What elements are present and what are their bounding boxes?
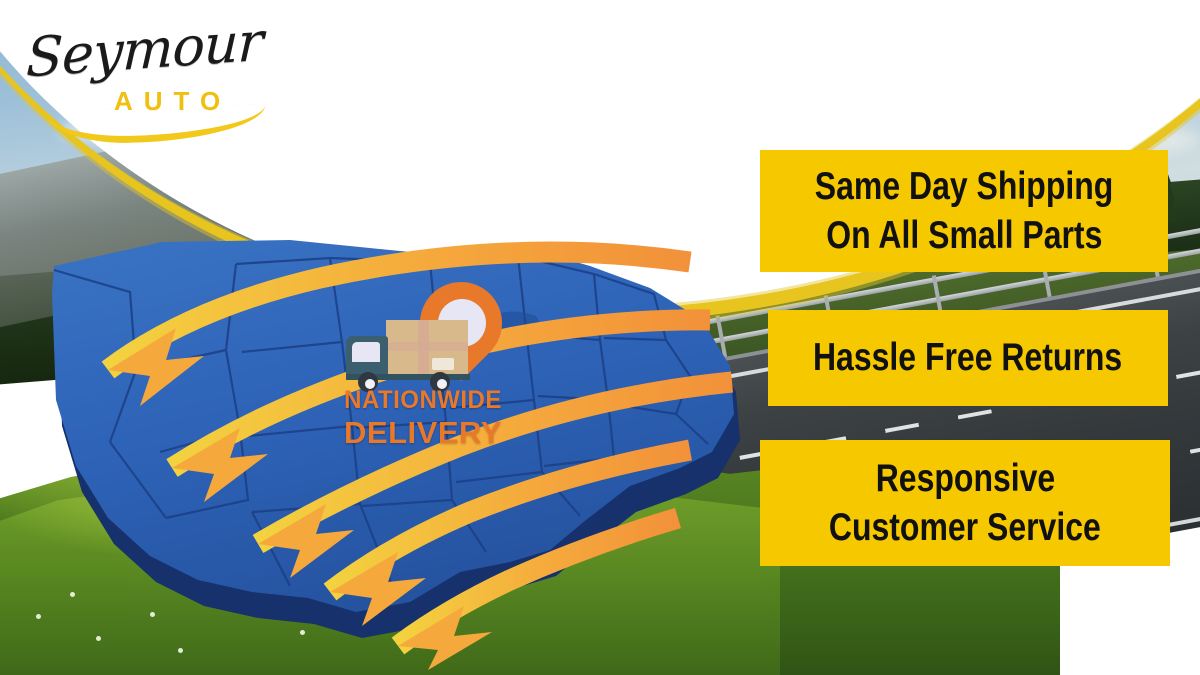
delivery-caption-line-2: DELIVERY: [318, 417, 528, 448]
brand-subtitle: AUTO: [114, 86, 231, 117]
callout-2-line-1: Hassle Free Returns: [813, 337, 1122, 378]
nationwide-delivery-badge: NATIONWIDE DELIVERY: [318, 278, 528, 453]
promo-banner: Seymour AUTO: [0, 0, 1200, 675]
delivery-caption: NATIONWIDE DELIVERY: [318, 388, 528, 448]
callout-responsive-customer-service: Responsive Customer Service: [760, 440, 1170, 566]
truck-box-label: [432, 358, 454, 370]
truck-window: [352, 342, 380, 362]
callout-same-day-shipping: Same Day Shipping On All Small Parts: [760, 150, 1168, 272]
callout-3-line-1: Responsive: [875, 458, 1055, 499]
callout-3-line-2: Customer Service: [829, 507, 1101, 548]
callout-hassle-free-returns: Hassle Free Returns: [768, 310, 1168, 406]
delivery-caption-line-1: NATIONWIDE: [322, 388, 524, 413]
callout-1-line-2: On All Small Parts: [826, 215, 1102, 256]
callout-1-line-1: Same Day Shipping: [815, 166, 1114, 207]
truck-box-tape-vertical: [418, 320, 429, 376]
brand-name: Seymour: [25, 10, 263, 90]
delivery-truck-icon: [346, 316, 476, 390]
brand-logo[interactable]: Seymour AUTO: [26, 18, 276, 128]
